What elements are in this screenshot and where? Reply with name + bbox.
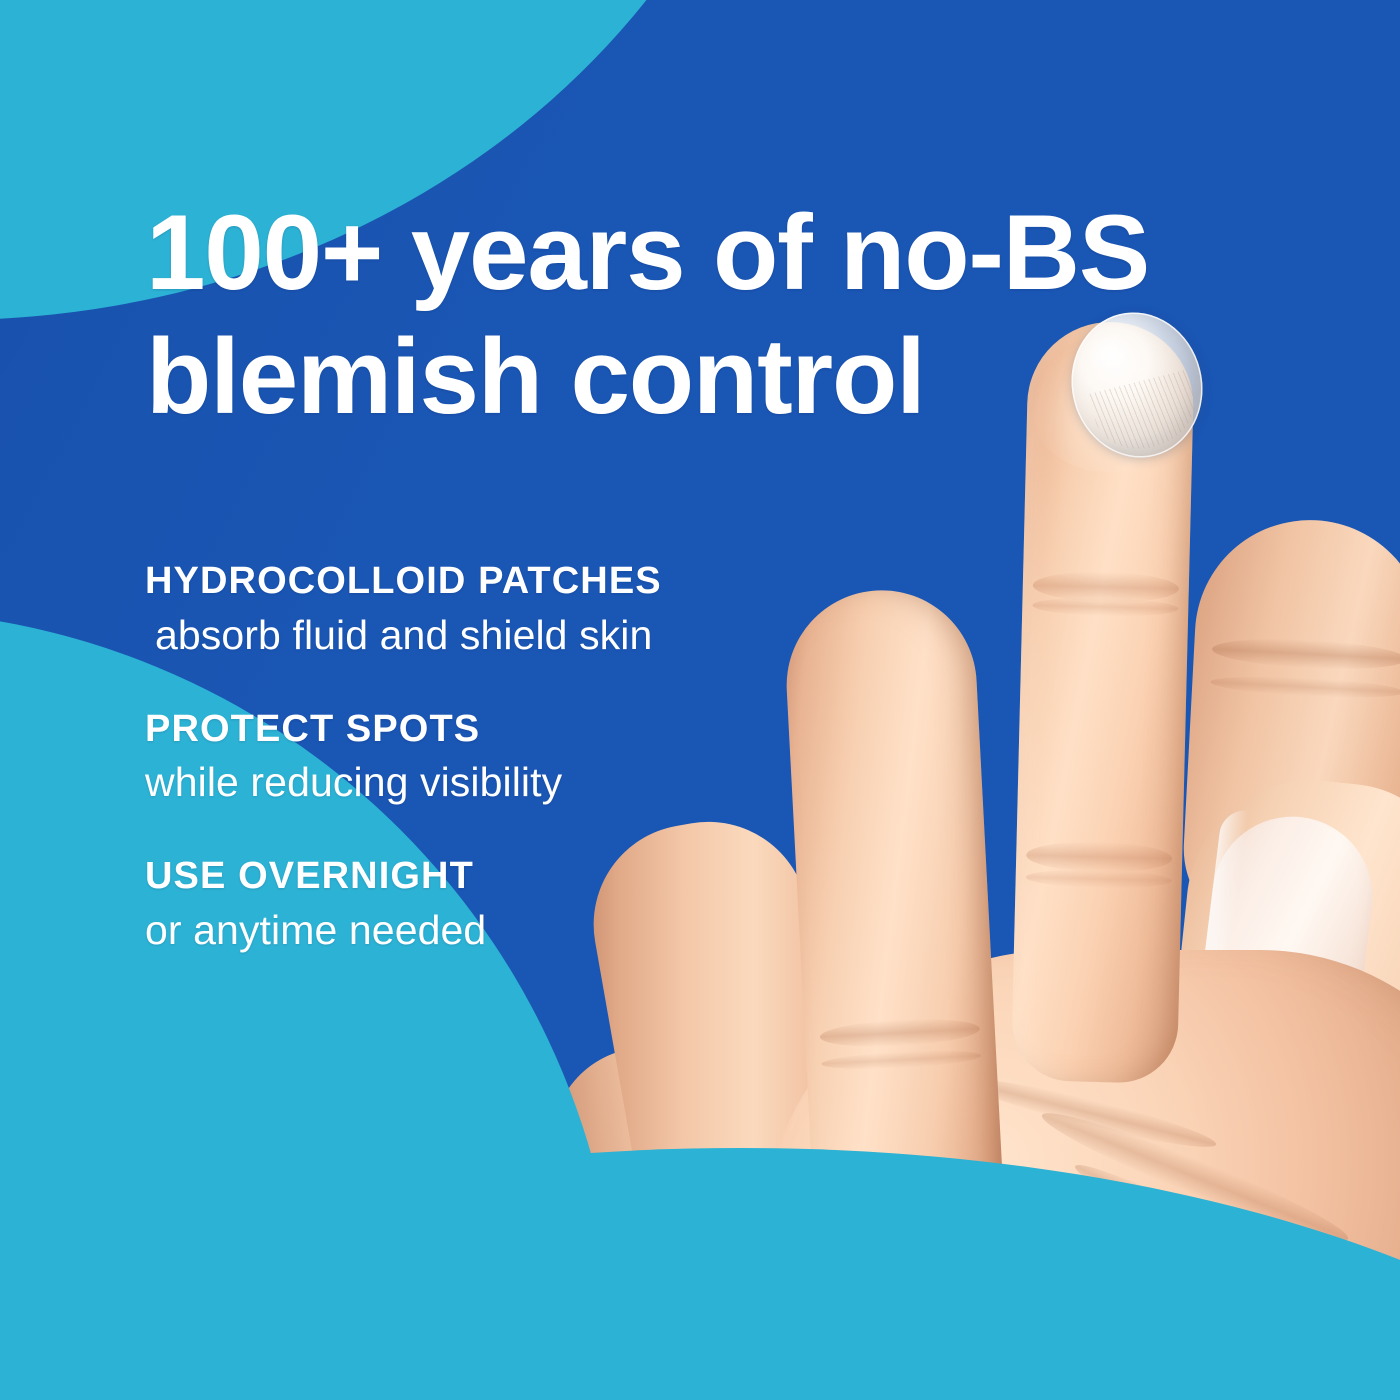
feature-list: HYDROCOLLOID PATCHES absorb fluid and sh… [145,560,865,955]
feature-subtitle: or anytime needed [145,906,865,955]
feature-subtitle: absorb fluid and shield skin [145,611,865,660]
feature-item-protect-spots: PROTECT SPOTS while reducing visibility [145,708,865,808]
feature-item-hydrocolloid-patches: HYDROCOLLOID PATCHES absorb fluid and sh… [145,560,865,660]
feature-subtitle: while reducing visibility [145,758,865,807]
feature-title: HYDROCOLLOID PATCHES [145,560,865,603]
promo-banner: 100+ years of no-BS blemish control HYDR… [0,0,1400,1400]
feature-item-use-overnight: USE OVERNIGHT or anytime needed [145,855,865,955]
headline: 100+ years of no-BS blemish control [146,190,1156,438]
feature-title: PROTECT SPOTS [145,708,865,751]
feature-title: USE OVERNIGHT [145,855,865,898]
